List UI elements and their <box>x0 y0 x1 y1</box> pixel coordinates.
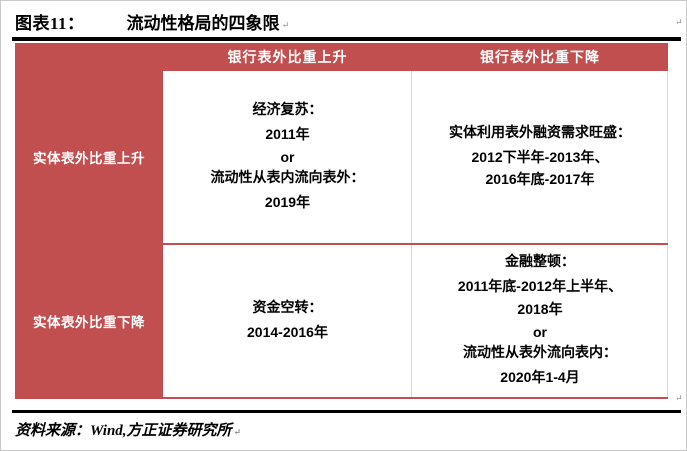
table-row-divider <box>163 243 668 245</box>
source-note: 资料来源：Wind,方正证券研究所↵ <box>15 419 241 440</box>
q4-line-4: or <box>533 321 547 344</box>
quadrant-cell-q4: 金融整顿： 2011年底-2012年上半年、 2018年 or 流动性从表外流向… <box>412 243 668 398</box>
paragraph-mark-icon-source: ↵ <box>234 427 242 441</box>
q4-line-6: 2020年1-4月 <box>500 366 579 389</box>
q4-line-2: 2011年底-2012年上半年、 <box>458 275 622 298</box>
column-header-bank-offbalance-up: 银行表外比重上升 <box>163 43 412 71</box>
q3-line-2: 2014-2016年 <box>247 321 328 344</box>
table-bottom-rule <box>15 397 668 399</box>
figure-title-row: 图表11： 流动性格局的四象限 ↵ <box>15 7 670 35</box>
page-title: 流动性格局的四象限 <box>127 9 280 34</box>
source-text: 资料来源：Wind,方正证券研究所 <box>15 423 232 439</box>
figure-page: 图表11： 流动性格局的四象限 ↵ ↵ 银行表外比重上升 银行表外比重下降 实体… <box>0 0 687 451</box>
paragraph-mark-icon: ↵ <box>282 20 290 35</box>
q2-line-3: 2016年底-2017年 <box>486 168 595 191</box>
table-vertical-divider <box>411 71 412 398</box>
q2-line-2: 2012下半年-2013年、 <box>472 146 609 169</box>
source-top-rule <box>12 410 681 413</box>
table-right-border <box>667 71 668 398</box>
q4-line-1: 金融整顿： <box>505 252 575 275</box>
q2-line-1: 实体利用表外融资需求旺盛： <box>449 123 631 146</box>
q4-line-5: 流动性从表外流向表内： <box>463 343 617 366</box>
table-top-rule <box>12 37 681 41</box>
quadrant-cell-q1: 经济复苏： 2011年 or 流动性从表内流向表外： 2019年 <box>163 71 412 243</box>
quadrant-cell-q3: 资金空转： 2014-2016年 <box>163 243 412 398</box>
q1-line-1: 经济复苏： <box>253 100 323 123</box>
column-header-bank-offbalance-down: 银行表外比重下降 <box>412 43 668 71</box>
row-header-entity-offbalance-down: 实体表外比重下降 <box>15 243 163 398</box>
q1-line-4: 流动性从表内流向表外： <box>211 168 365 191</box>
paragraph-mark-icon-title-right: ↵ <box>675 17 683 28</box>
table-header-row: 银行表外比重上升 银行表外比重下降 <box>15 43 668 71</box>
figure-number-label: 图表11： <box>15 9 85 34</box>
q3-line-1: 资金空转： <box>253 298 323 321</box>
q4-line-3: 2018年 <box>517 298 562 321</box>
quadrant-table: 银行表外比重上升 银行表外比重下降 实体表外比重上升 实体表外比重下降 经济复苏… <box>15 43 668 398</box>
quadrant-cell-q2: 实体利用表外融资需求旺盛： 2012下半年-2013年、 2016年底-2017… <box>412 71 668 243</box>
row-header-entity-offbalance-up: 实体表外比重上升 <box>15 71 163 243</box>
paragraph-mark-icon-table-right: ↵ <box>675 393 683 404</box>
q1-line-3: or <box>281 146 295 169</box>
table-header-corner <box>15 43 163 71</box>
q1-line-5: 2019年 <box>265 191 310 214</box>
q1-line-2: 2011年 <box>265 123 309 146</box>
